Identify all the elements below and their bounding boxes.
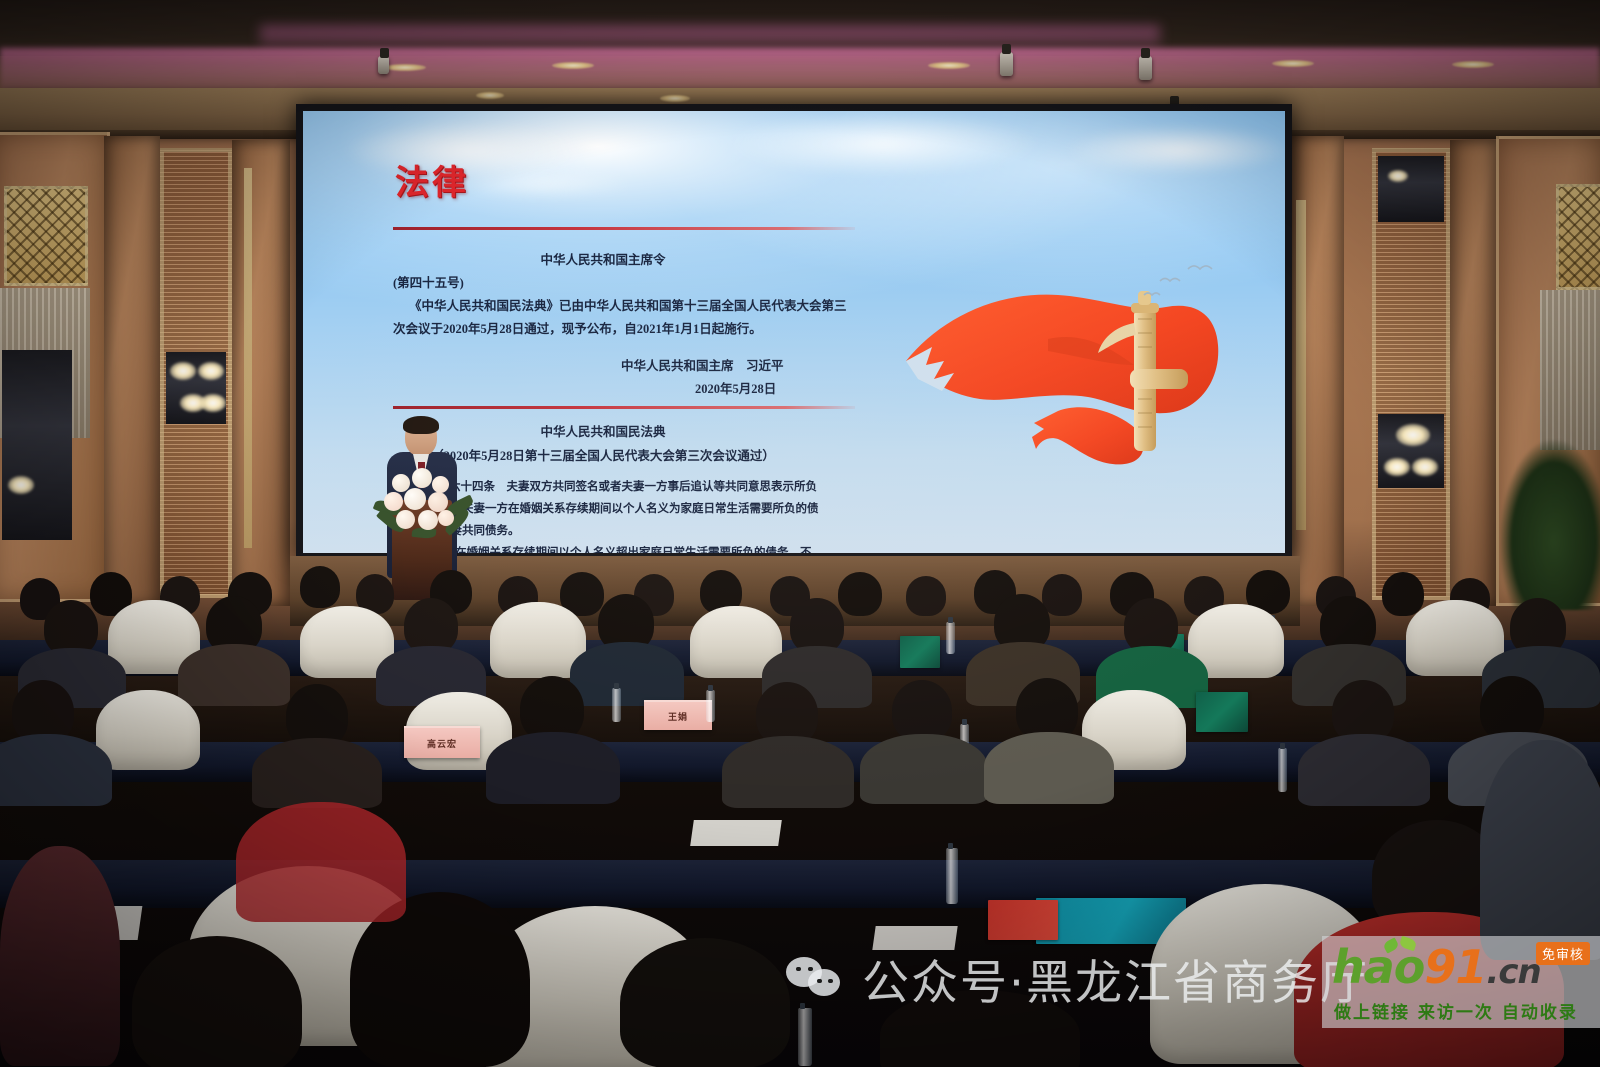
audience-head (892, 680, 952, 742)
sheer-curtain-right (1540, 290, 1600, 450)
podium-flower-arrangement (372, 466, 476, 540)
lattice-screen-left (4, 186, 88, 286)
conference-folder (900, 636, 940, 668)
hao91-91: 91 (1424, 940, 1486, 994)
water-bottle (706, 690, 715, 722)
audience-red-coat (236, 802, 406, 922)
cloud-decor (723, 111, 1043, 177)
paper-handout (872, 926, 957, 950)
order-signature: 中华人民共和国主席 习近平 (621, 357, 784, 376)
audience-shoulders (178, 644, 290, 706)
water-bottle (612, 688, 621, 722)
flag-ribbon-tail (1032, 407, 1144, 464)
hao91-badge: 免审核 (1536, 942, 1590, 965)
red-flag-svg (898, 261, 1228, 476)
mirror-strip-left (2, 350, 72, 540)
red-folder (988, 900, 1058, 940)
mirror-inset-right (1378, 414, 1444, 488)
column-crossbar (1130, 369, 1188, 389)
reflected-light-icon (1396, 424, 1430, 446)
chair-back (96, 690, 200, 770)
water-bottle (946, 848, 958, 904)
flower-bloom (432, 476, 449, 493)
wall-column-left-inner (232, 140, 290, 606)
hao91-tagline: 做上链接 来访一次 自动收录 (1334, 998, 1578, 1023)
track-spotlight-icon (1000, 52, 1013, 76)
reflected-light-icon (1388, 170, 1408, 182)
column-inlay (1296, 200, 1306, 530)
audience-patterned-coat (0, 846, 120, 1066)
order-number: (第四十五号) (393, 274, 464, 293)
track-spotlight-icon (1139, 56, 1152, 80)
reflected-light-icon (200, 394, 226, 412)
flag-main-shape (906, 295, 1218, 414)
flower-bloom (412, 468, 432, 488)
column-inlay (244, 168, 252, 548)
paper-handout (690, 820, 782, 846)
audience-shoulders (984, 732, 1114, 804)
audience-head (906, 576, 946, 616)
ceiling-cove-light-secondary (260, 26, 1160, 52)
wall-column-left (104, 136, 160, 606)
slide-divider-bottom (393, 406, 855, 409)
audience-head (1382, 572, 1424, 616)
order-body-line-2: 次会议于2020年5月28日通过，现予公布，自2021年1月1日起施行。 (393, 320, 762, 339)
audience-shoulders (252, 738, 382, 808)
downlight-icon (1452, 61, 1494, 68)
track-spotlight-icon (378, 56, 389, 74)
mirror-inset-right-top (1378, 156, 1444, 222)
flower-bloom (438, 510, 454, 526)
audience-shoulders (570, 642, 684, 706)
audience-shoulders (860, 734, 988, 804)
order-signature-date: 2020年5月28日 (695, 380, 776, 399)
audience-head (838, 572, 882, 616)
downlight-icon (1272, 60, 1314, 67)
audience-head (1042, 574, 1082, 616)
speaker-hair (403, 416, 439, 434)
name-placard: 王娟 (644, 700, 712, 730)
water-bottle (1278, 748, 1287, 792)
lattice-screen-right (1556, 184, 1600, 290)
hao91-wordmark: hao91.cn (1332, 944, 1541, 990)
downlight-icon (384, 64, 426, 71)
wall-column-right (1450, 140, 1496, 606)
audience-shoulders (1480, 740, 1600, 960)
audience-shoulders (0, 734, 112, 806)
water-bottle (946, 622, 955, 654)
downlight-icon (476, 92, 504, 99)
reflected-light-icon (198, 362, 224, 380)
slide-heading: 法律 (395, 155, 469, 204)
slide-divider-top (393, 227, 855, 230)
downlight-icon (660, 95, 690, 102)
downlight-icon (552, 62, 594, 69)
article-line-4: 夫妻一方在婚姻关系存续期间以个人名义超出家庭日常生活需要所负的债务，不 (409, 545, 812, 553)
audience-shoulders (486, 732, 620, 804)
flower-bloom (404, 488, 426, 510)
red-flag-graphic (898, 261, 1228, 476)
flower-bloom (384, 492, 403, 511)
conference-photo: 法律 中华人民共和国主席令 (第四十五号) 《中华人民共和国民法典》已由中华人民… (0, 0, 1600, 1067)
name-placard: 高云宏 (404, 726, 480, 758)
reflected-light-icon (1412, 458, 1438, 476)
audience-shoulders (1298, 734, 1430, 806)
flower-bloom (396, 510, 415, 529)
audience-head (300, 566, 340, 608)
reflected-light-icon (8, 476, 34, 494)
cloud-decor (1063, 125, 1285, 175)
hao91-logo: hao91.cn 免审核 做上链接 来访一次 自动收录 (1322, 936, 1600, 1028)
order-title: 中华人民共和国主席令 (393, 251, 813, 270)
water-bottle (798, 1008, 812, 1066)
cloud-decor (453, 169, 633, 199)
audience-head-front (132, 936, 302, 1067)
flower-bloom (418, 510, 438, 530)
hao91-h: h (1332, 940, 1364, 994)
downlight-icon (928, 62, 970, 69)
flower-bloom (428, 492, 448, 512)
order-body-line-1: 《中华人民共和国民法典》已由中华人民共和国第十三届全国人民代表大会第三 (409, 297, 847, 316)
mirror-inset-left (166, 352, 226, 424)
bird-icon (1144, 266, 1212, 295)
audience-shoulders (722, 736, 854, 808)
audience-head-front (620, 938, 790, 1067)
potted-plant (1500, 440, 1600, 610)
reflected-light-icon (1384, 458, 1410, 476)
reflected-light-icon (170, 362, 196, 380)
conference-folder (1196, 692, 1248, 732)
hao91-cn: .cn (1486, 952, 1540, 992)
